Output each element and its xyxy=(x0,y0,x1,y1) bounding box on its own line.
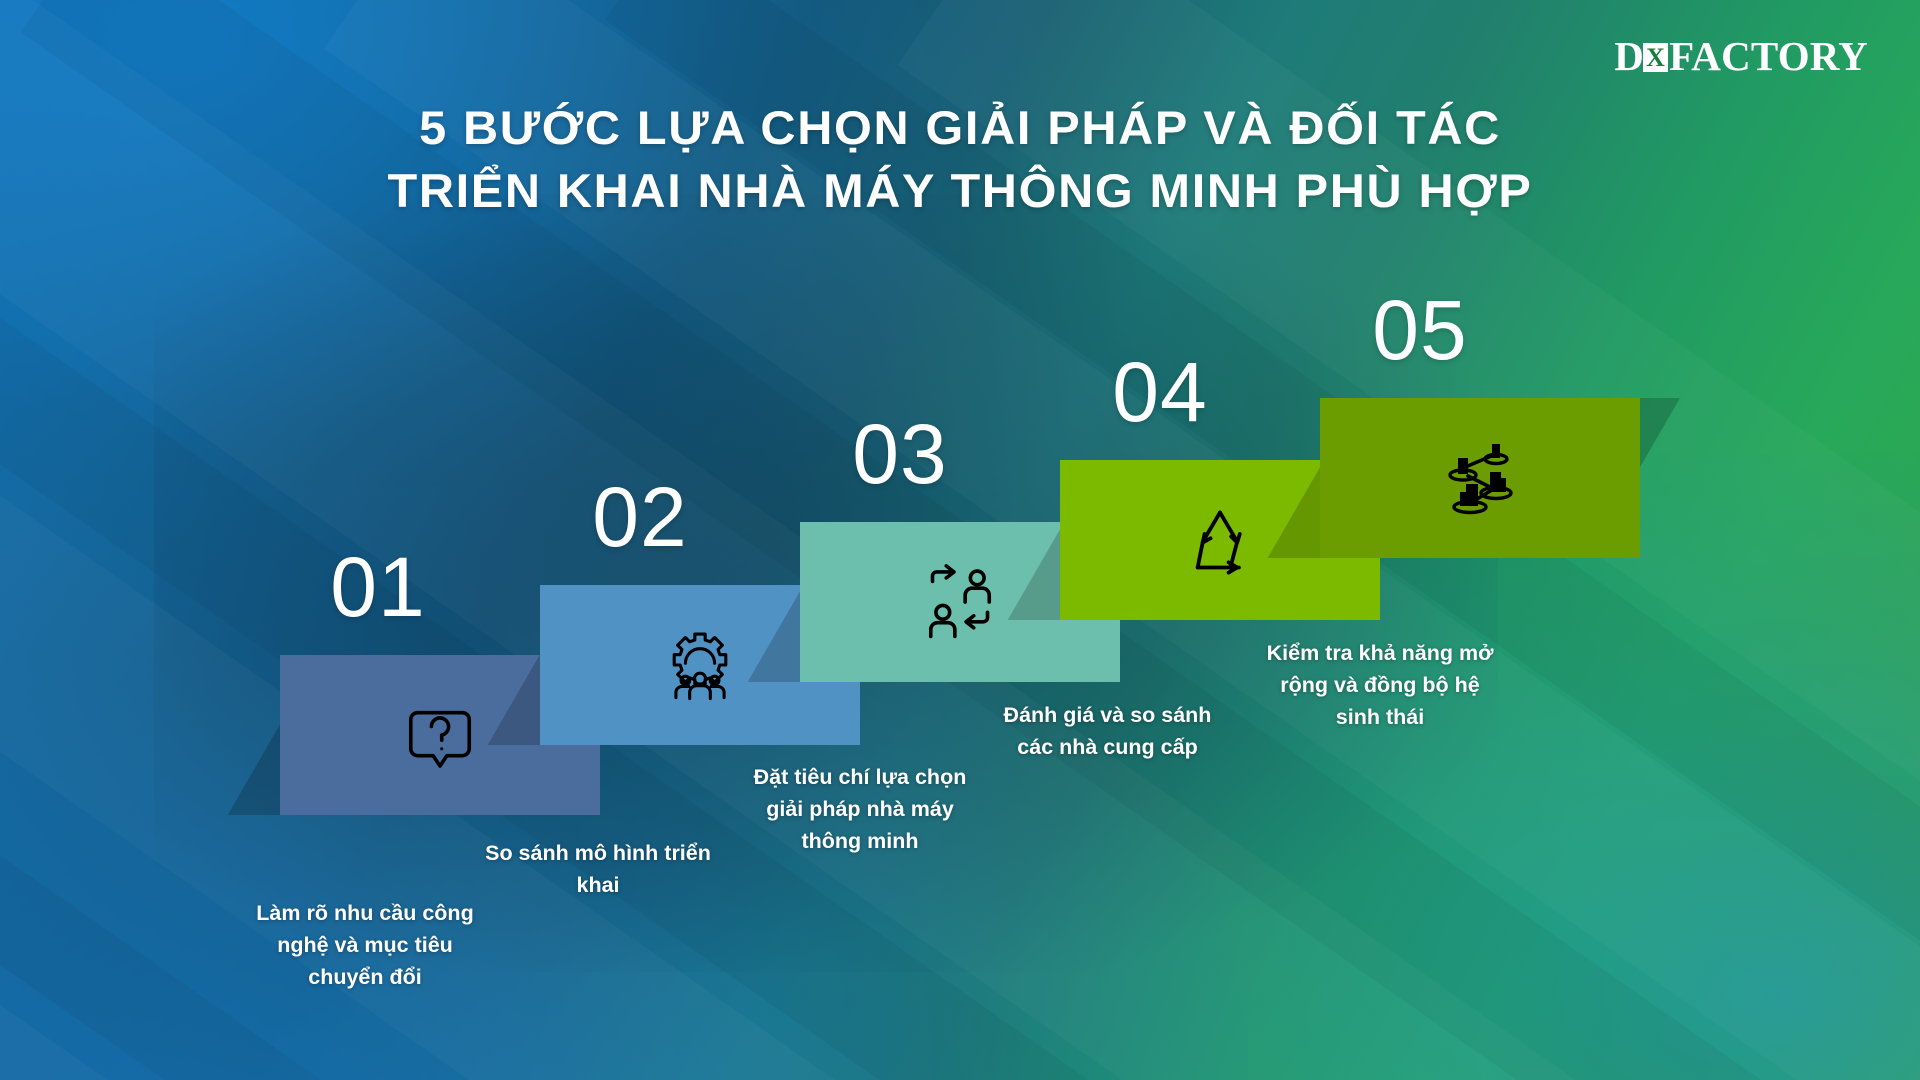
step-caption-04: Đánh giá và so sánh các nhà cung cấp xyxy=(1000,700,1215,764)
step-number-05: 05 xyxy=(1320,288,1520,372)
people-exchange-icon xyxy=(917,559,1003,645)
step-number-04: 04 xyxy=(1060,350,1260,434)
recycle-cycle-icon xyxy=(1177,497,1263,583)
question-bubble-icon xyxy=(397,692,483,778)
step-caption-02: So sánh mô hình triển khai xyxy=(483,838,713,902)
step-number-01: 01 xyxy=(278,545,478,629)
network-ecosystem-icon xyxy=(1430,428,1530,528)
steps-staircase: 01 Làm rõ nhu cầu công nghệ và mục tiêu … xyxy=(0,0,1920,1080)
step-card-05[interactable] xyxy=(1320,398,1640,558)
step-caption-05: Kiểm tra khả năng mở rộng và đồng bộ hệ … xyxy=(1260,638,1500,733)
gear-people-icon xyxy=(657,622,743,708)
step-caption-03: Đặt tiêu chí lựa chọn giải pháp nhà máy … xyxy=(740,762,980,857)
step-number-02: 02 xyxy=(540,475,740,559)
step-caption-01: Làm rõ nhu cầu công nghệ và mục tiêu chu… xyxy=(250,898,480,993)
step-number-03: 03 xyxy=(800,412,1000,496)
